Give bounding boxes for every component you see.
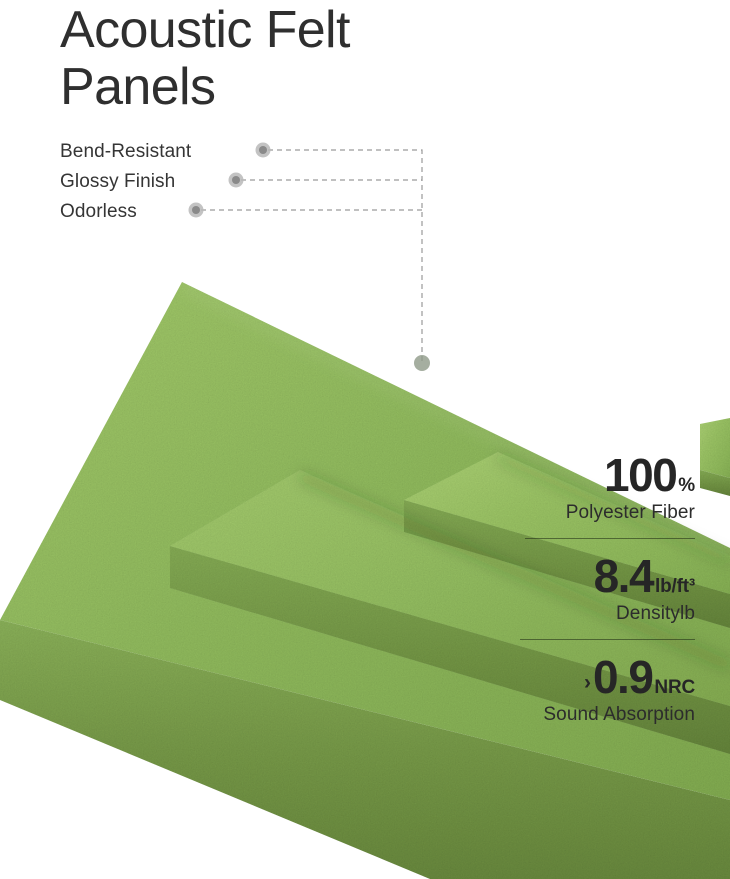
spec-sound-absorption: › 0.9 NRC Sound Absorption: [495, 654, 695, 726]
spec-number: 0.9: [593, 654, 652, 700]
panel-stack: [0, 0, 730, 879]
spec-prefix: ›: [584, 672, 591, 693]
spec-unit: NRC: [654, 678, 695, 697]
feature-item-odorless: Odorless: [60, 197, 191, 227]
spec-value: 8.4 lb/ft³: [495, 553, 695, 599]
spec-number: 8.4: [594, 553, 653, 599]
spec-density: 8.4 lb/ft³ Densitylb: [495, 553, 695, 625]
product-marketing-image: Acoustic Felt Panels Bend-Resistant Glos…: [0, 0, 730, 879]
spec-divider: [520, 639, 695, 640]
feature-item-bend-resistant: Bend-Resistant: [60, 137, 191, 167]
spec-caption: Polyester Fiber: [495, 502, 695, 524]
spec-value: › 0.9 NRC: [495, 654, 695, 700]
feature-label: Bend-Resistant: [60, 141, 191, 163]
title-line-1: Acoustic Felt: [60, 2, 350, 59]
spec-unit: %: [678, 476, 695, 495]
spec-caption: Densitylb: [495, 603, 695, 625]
spec-divider: [525, 538, 695, 539]
page-title: Acoustic Felt Panels: [60, 2, 350, 116]
feature-item-glossy-finish: Glossy Finish: [60, 167, 191, 197]
product-photo: [0, 0, 730, 879]
spec-unit: lb/ft³: [655, 577, 695, 596]
spec-polyester-fiber: 100 % Polyester Fiber: [495, 452, 695, 524]
spec-caption: Sound Absorption: [495, 704, 695, 726]
title-line-2: Panels: [60, 59, 350, 116]
spec-value: 100 %: [495, 452, 695, 498]
spec-list: 100 % Polyester Fiber 8.4 lb/ft³ Density…: [495, 452, 695, 726]
feature-list: Bend-Resistant Glossy Finish Odorless: [60, 137, 191, 227]
feature-label: Glossy Finish: [60, 171, 175, 193]
feature-label: Odorless: [60, 201, 137, 223]
spec-number: 100: [604, 452, 676, 498]
panel-corner-right: [700, 418, 730, 496]
